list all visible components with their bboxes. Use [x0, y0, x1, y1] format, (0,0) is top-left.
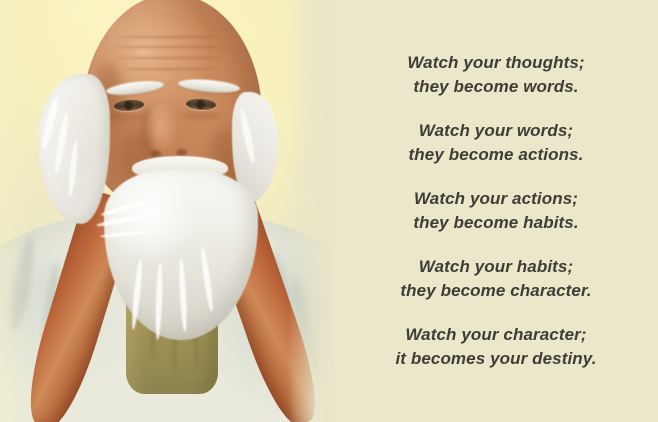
quote-line: they become character.: [400, 279, 591, 303]
quote-stanza-4: Watch your habits; they become character…: [400, 255, 591, 303]
quote-text-panel: Watch your thoughts; they become words. …: [334, 0, 658, 422]
forehead-wrinkle: [124, 68, 216, 70]
quote-stanza-5: Watch your character; it becomes your de…: [395, 323, 596, 371]
nostril-left: [150, 150, 161, 157]
nostril-right: [176, 149, 187, 156]
sage-portrait-image: [0, 0, 334, 422]
quote-image-canvas: Watch your thoughts; they become words. …: [0, 0, 658, 422]
quote-line: it becomes your destiny.: [395, 347, 596, 371]
forehead-wrinkle: [114, 46, 226, 48]
pupil-left: [124, 101, 133, 110]
pupil-right: [196, 100, 205, 109]
quote-line: Watch your habits;: [400, 255, 591, 279]
quote-stanza-1: Watch your thoughts; they become words.: [407, 51, 584, 99]
quote-stanza-2: Watch your words; they become actions.: [409, 119, 584, 167]
forehead-wrinkle: [118, 36, 222, 38]
quote-line: Watch your words;: [409, 119, 584, 143]
quote-line: Watch your thoughts;: [407, 51, 584, 75]
quote-line: they become words.: [407, 75, 584, 99]
quote-line: Watch your actions;: [413, 187, 578, 211]
quote-line: they become actions.: [409, 143, 584, 167]
eye-bag-right: [182, 111, 220, 120]
forehead-wrinkle: [118, 57, 224, 59]
quote-stanza-3: Watch your actions; they become habits.: [413, 187, 578, 235]
quote-line: Watch your character;: [395, 323, 596, 347]
quote-line: they become habits.: [413, 211, 578, 235]
